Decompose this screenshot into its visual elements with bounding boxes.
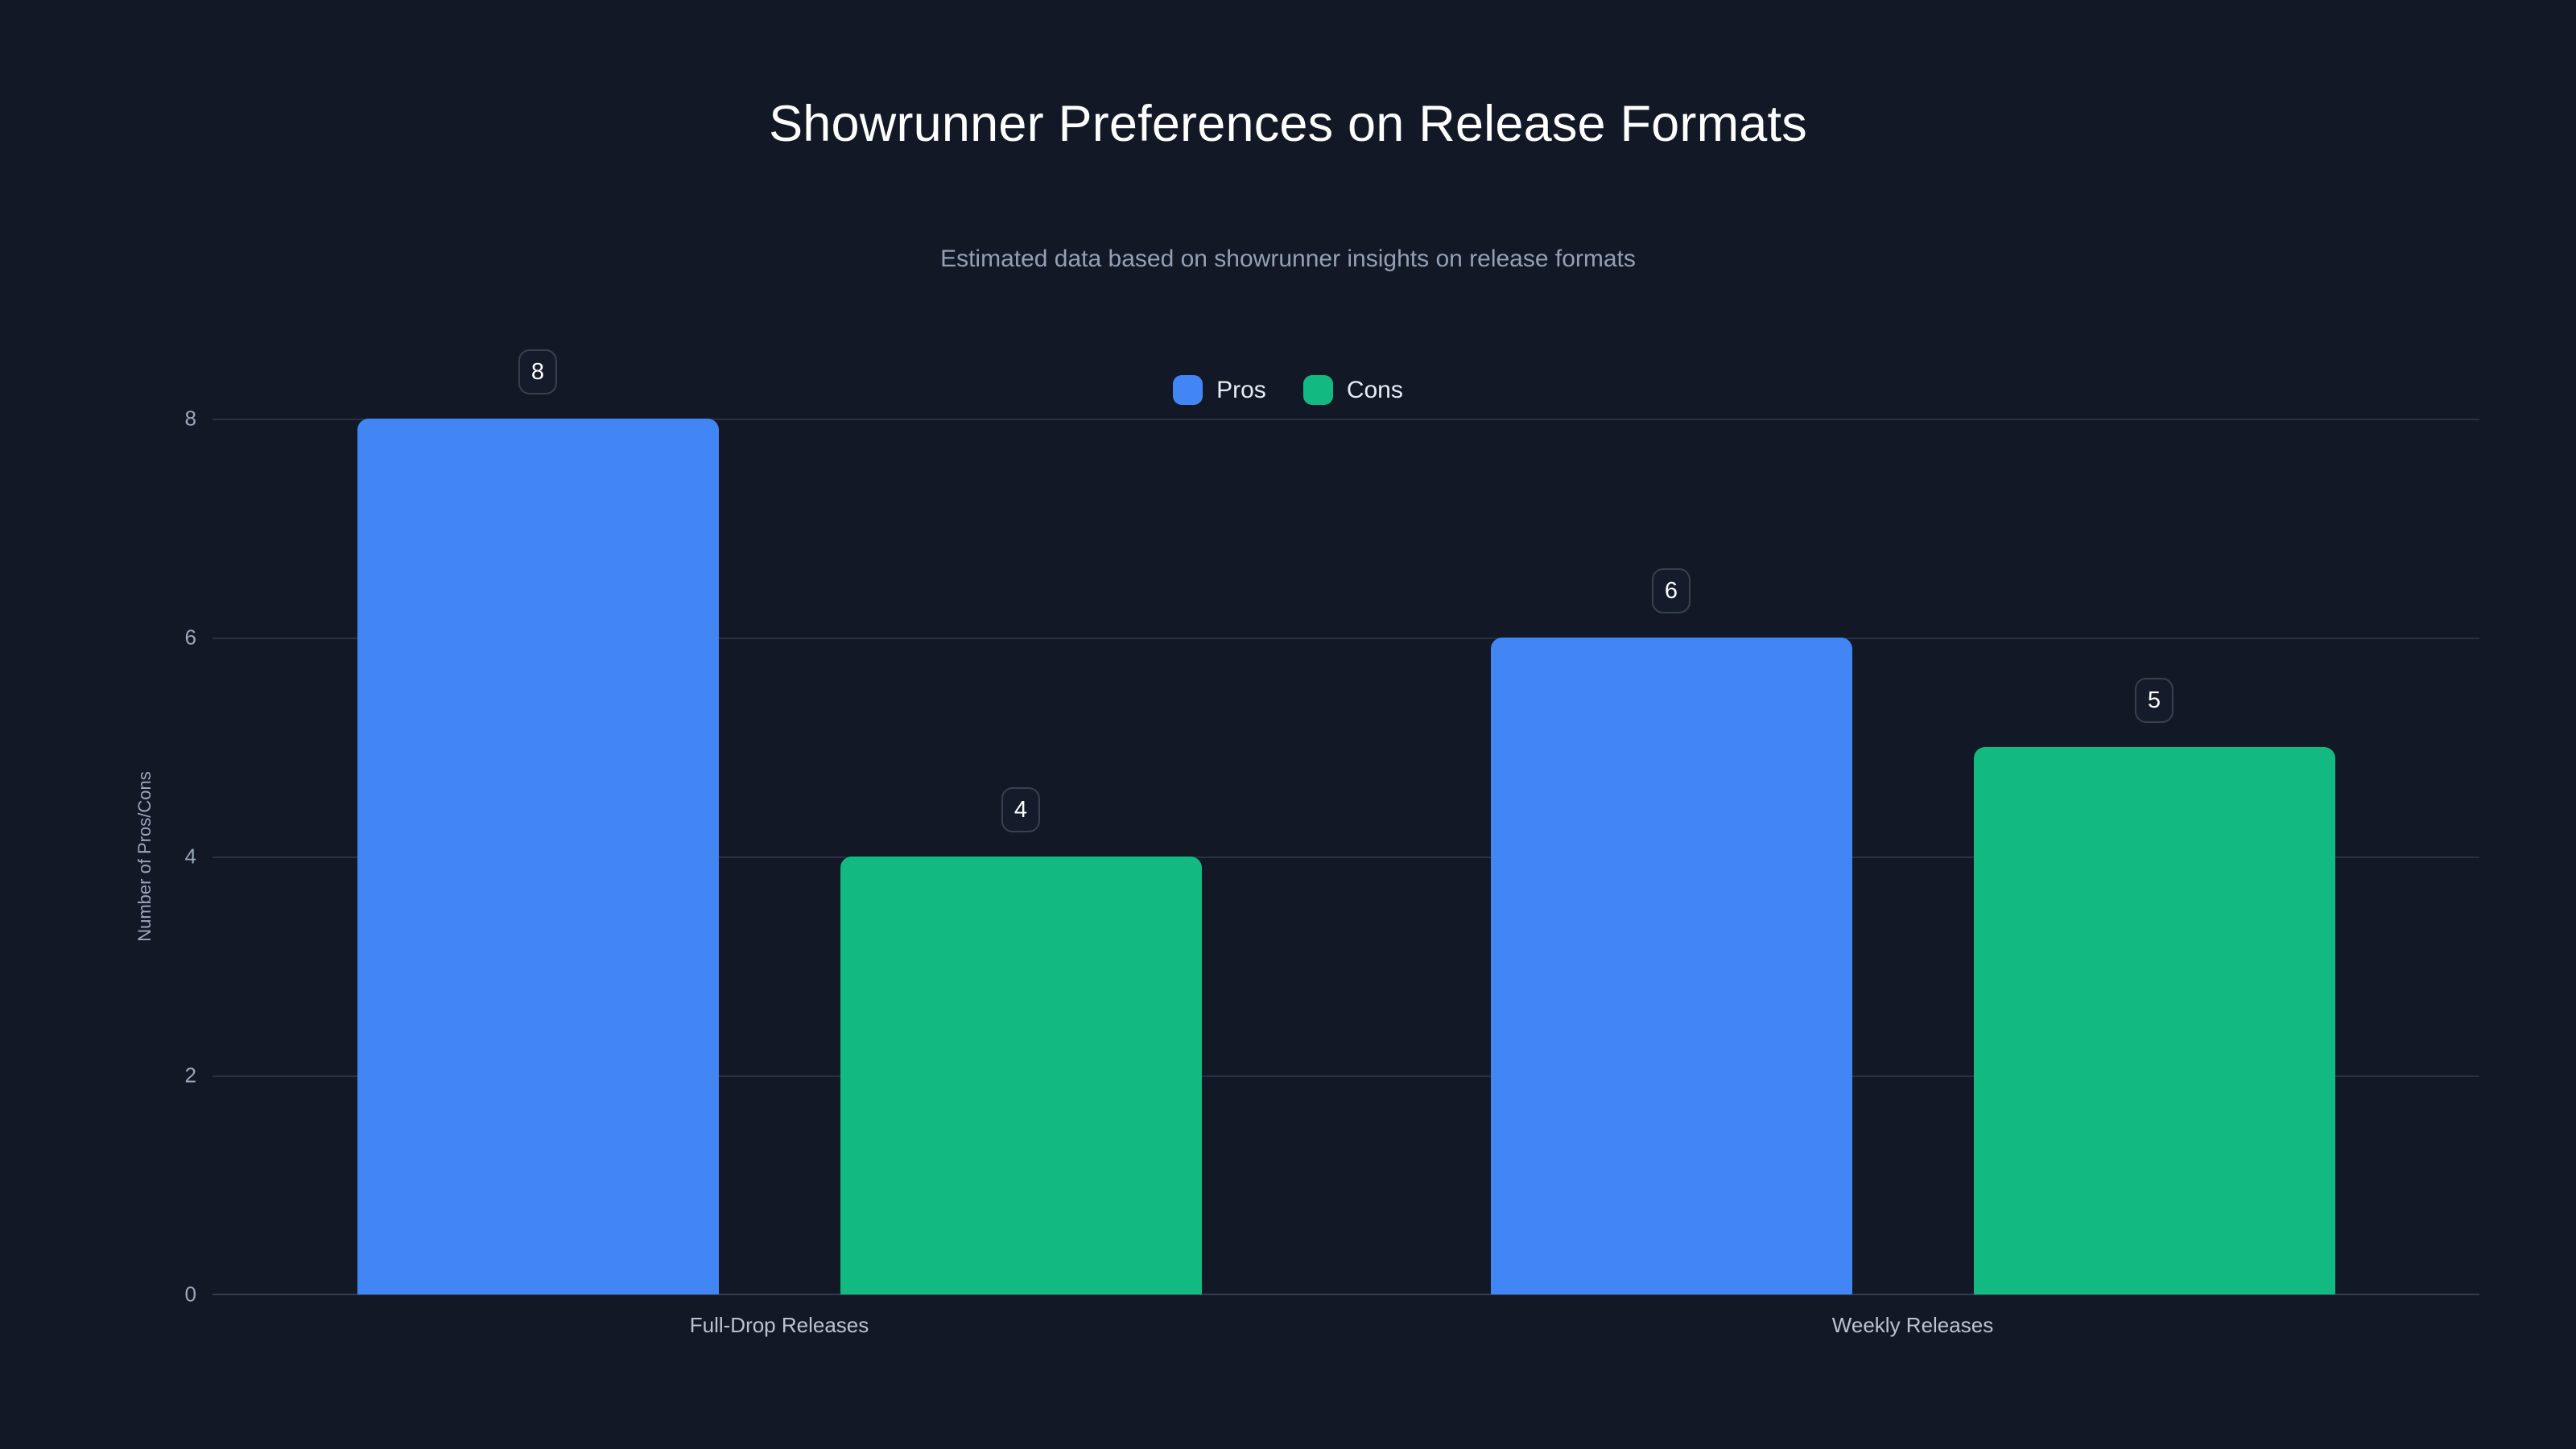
bar-pros-0[interactable] [357,419,719,1294]
bar-cons-0[interactable] [840,857,1202,1294]
legend-swatch-pros [1173,375,1203,405]
legend-item-pros[interactable]: Pros [1173,375,1266,405]
bar-pros-1[interactable] [1491,638,1852,1294]
data-label-badge: 5 [2135,678,2173,723]
legend-label-cons: Cons [1347,378,1403,402]
data-label-badge: 8 [518,349,557,394]
y-axis-title: Number of Pros/Cons [134,771,155,942]
legend-swatch-cons [1303,375,1333,405]
chart-subtitle: Estimated data based on showrunner insig… [0,246,2576,272]
chart-title: Showrunner Preferences on Release Format… [0,97,2576,152]
x-axis-tick-label: Full-Drop Releases [690,1313,869,1338]
data-label-badge: 4 [1001,787,1040,832]
x-axis-tick-label: Weekly Releases [1832,1313,1993,1338]
legend-label-pros: Pros [1216,378,1266,402]
y-axis-tick-label: 6 [164,625,196,650]
bar-cons-1[interactable] [1974,747,2335,1294]
legend-item-cons[interactable]: Cons [1303,375,1403,405]
chart-container: Showrunner Preferences on Release Format… [0,0,2576,1449]
y-axis-tick-label: 0 [164,1282,196,1307]
data-label-badge: 6 [1652,568,1690,613]
chart-legend: Pros Cons [0,375,2576,405]
y-axis-tick-label: 2 [164,1063,196,1088]
plot-area: Number of Pros/Cons 02468 8465 Full-Drop… [213,419,2479,1294]
y-axis-tick-label: 4 [164,844,196,869]
y-axis-tick-label: 8 [164,407,196,431]
